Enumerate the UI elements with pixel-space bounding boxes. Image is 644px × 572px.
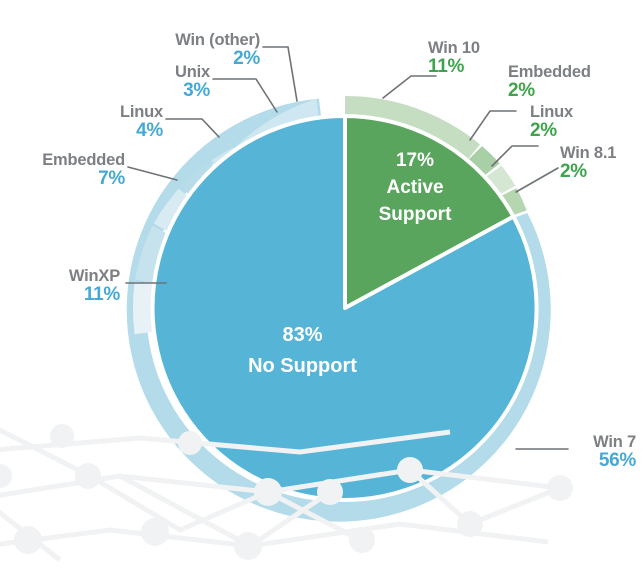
label-unix-percent: 3% [120,81,210,101]
label-embedded-blue-percent: 7% [5,169,125,189]
leader-line-embedded-blue [128,167,177,180]
label-embedded-green-name: Embedded [508,64,638,81]
label-unix-name: Unix [120,64,210,81]
label-win-other-name: Win (other) [150,32,260,49]
inner-label-active-support: 17% Active Support [340,148,490,229]
label-winxp-name: WinXP [10,268,120,285]
label-win81-percent: 2% [560,162,644,182]
leader-line-unix [213,79,277,112]
label-winxp[interactable]: WinXP 11% [10,268,120,305]
leader-line-win-other [263,47,297,101]
label-win7-name: Win 7 [538,434,636,451]
active-support-percent: 17% [340,148,490,175]
label-linux-blue-name: Linux [73,104,163,121]
label-embedded-blue[interactable]: Embedded 7% [5,152,125,189]
leader-line-embedded-green [470,111,516,140]
label-linux-blue-percent: 4% [73,121,163,141]
label-embedded-green[interactable]: Embedded 2% [508,64,638,101]
label-linux-green-name: Linux [530,104,630,121]
label-unix[interactable]: Unix 3% [120,64,210,101]
inner-label-no-support: 83% No Support [185,320,420,382]
no-support-line1: No Support [185,351,420,382]
label-win7[interactable]: Win 7 56% [538,434,636,471]
leader-line-win10 [383,76,436,98]
label-winxp-percent: 11% [10,285,120,305]
leader-line-linux-blue [166,119,219,137]
active-support-line2: Support [340,202,490,229]
chart-canvas: Win (other) 2% Unix 3% Linux 4% Embedded… [0,0,644,572]
label-win10-name: Win 10 [428,40,538,57]
active-support-line1: Active [340,175,490,202]
label-linux-green-percent: 2% [530,121,630,141]
label-win81[interactable]: Win 8.1 2% [560,145,644,182]
leader-line-win81 [516,168,558,192]
label-embedded-blue-name: Embedded [5,152,125,169]
label-linux-blue[interactable]: Linux 4% [73,104,163,141]
no-support-percent: 83% [185,320,420,351]
label-win81-name: Win 8.1 [560,145,644,162]
label-linux-green[interactable]: Linux 2% [530,104,630,141]
label-win7-percent: 56% [538,451,636,471]
label-embedded-green-percent: 2% [508,81,638,101]
